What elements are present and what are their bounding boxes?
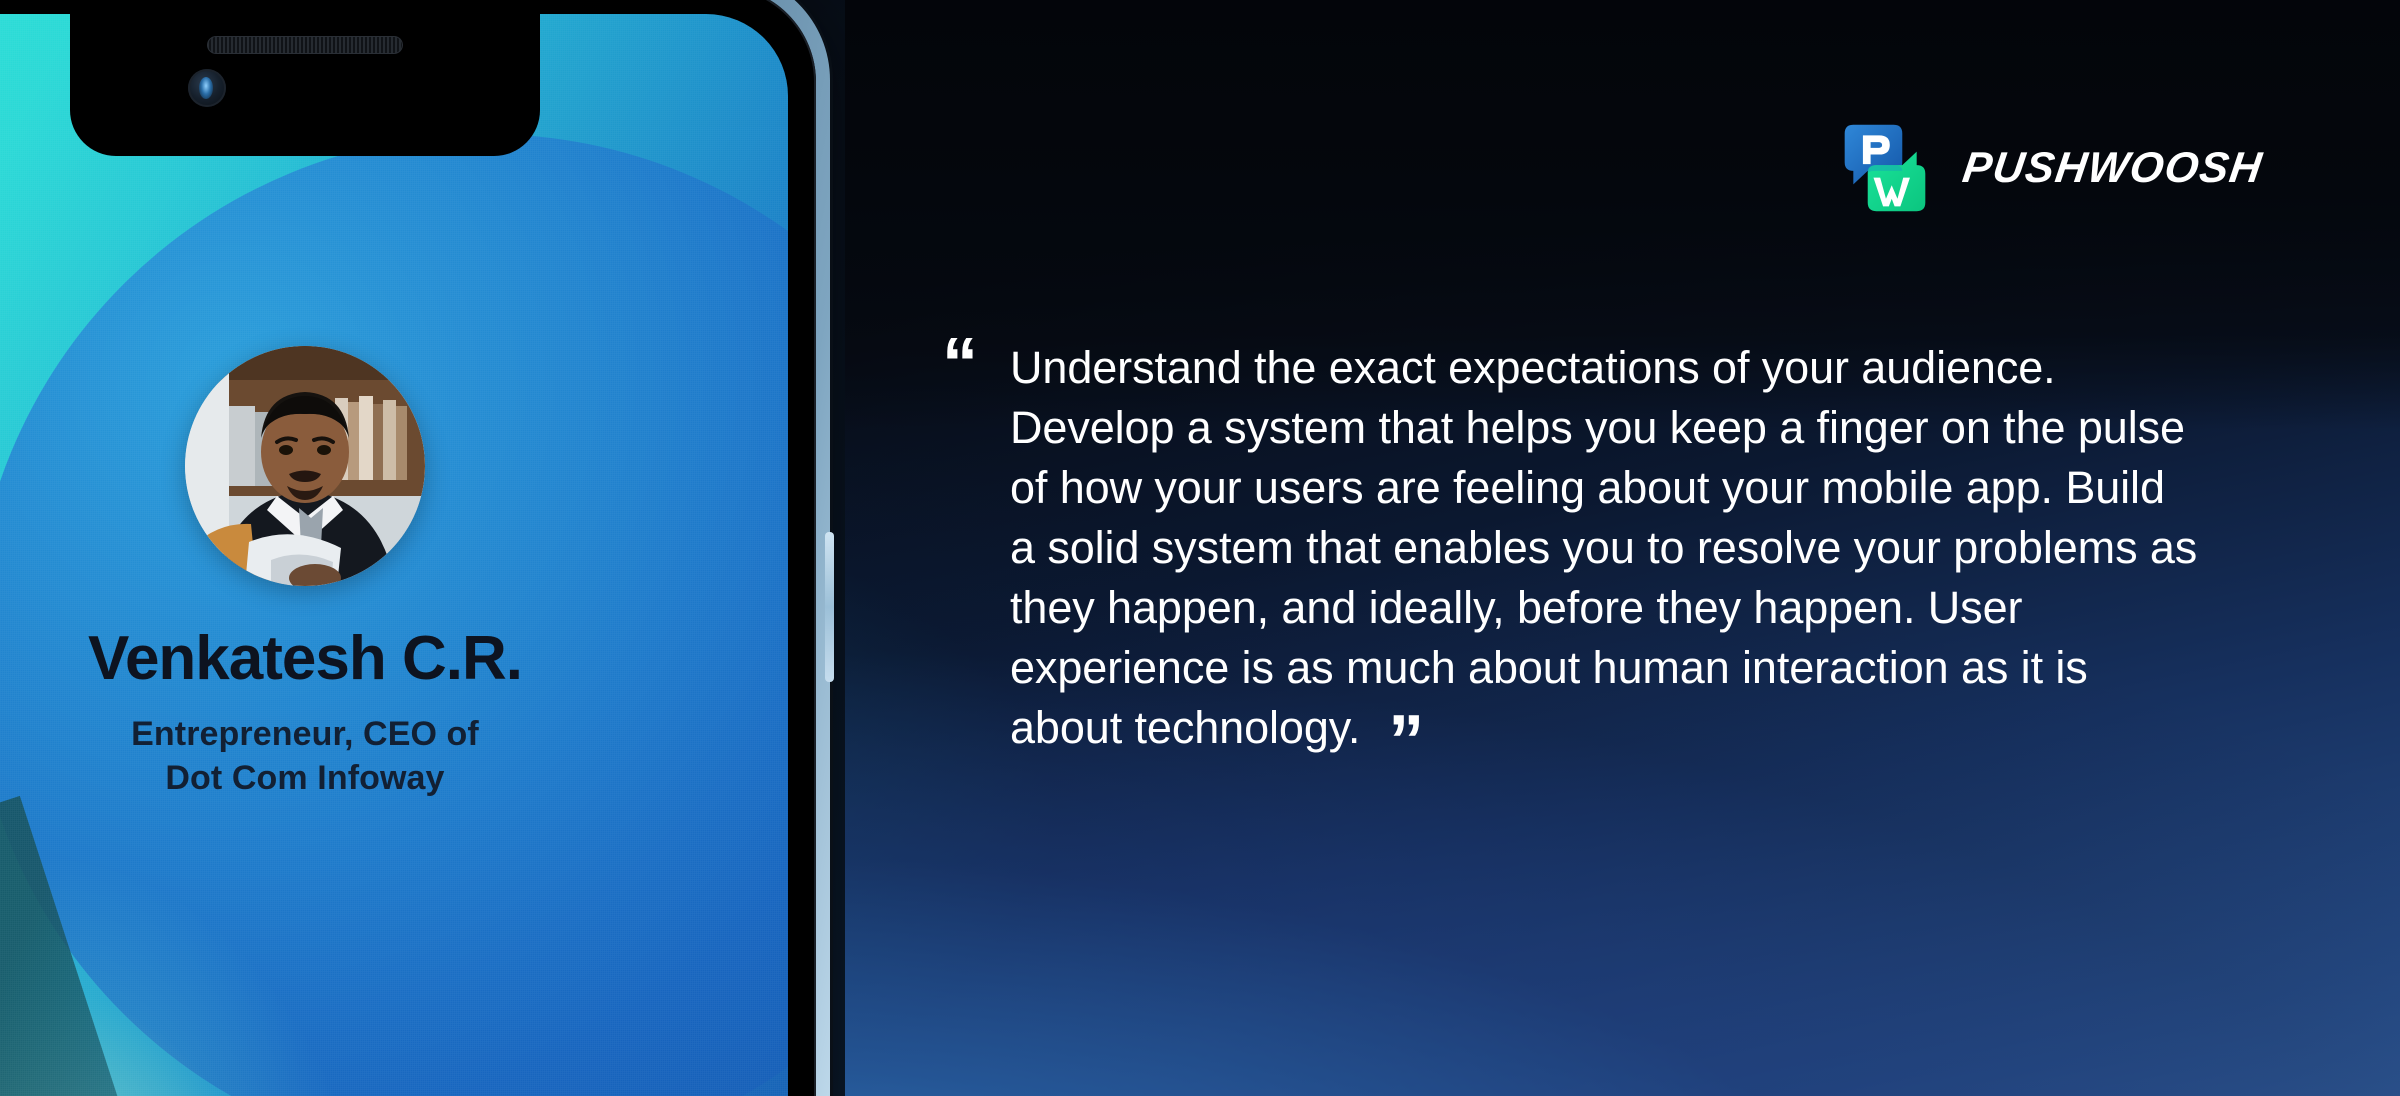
testimonial-banner: Venkatesh C.R. Entrepreneur, CEO of Dot … <box>0 0 2400 1096</box>
quote-text: Understand the exact expectations of you… <box>1010 342 2197 753</box>
testimonial-card: Venkatesh C.R. Entrepreneur, CEO of Dot … <box>0 346 788 800</box>
earpiece-speaker-icon <box>207 36 403 54</box>
phone-frame: Venkatesh C.R. Entrepreneur, CEO of Dot … <box>0 0 830 1096</box>
power-button-icon[interactable] <box>825 532 834 682</box>
phone-screen: Venkatesh C.R. Entrepreneur, CEO of Dot … <box>0 14 788 1096</box>
person-role-line-1: Entrepreneur, CEO of <box>0 713 748 757</box>
avatar <box>185 346 425 586</box>
quote-text-wrapper: Understand the exact expectations of you… <box>1010 338 2202 777</box>
phone-bezel: Venkatesh C.R. Entrepreneur, CEO of Dot … <box>0 0 816 1096</box>
phone-notch <box>70 14 540 156</box>
phone-mockup: Venkatesh C.R. Entrepreneur, CEO of Dot … <box>0 0 845 1096</box>
front-camera-icon <box>188 69 226 107</box>
brand-name: PUSHWOOSH <box>1959 144 2265 193</box>
quote-close-mark: ” <box>1388 705 1424 777</box>
quote-block: “ Understand the exact expectations of y… <box>942 338 2202 777</box>
page-title: Venkatesh C.R. <box>0 626 748 691</box>
brand-logo[interactable]: PUSHWOOSH <box>1837 120 2262 216</box>
pushwoosh-chat-bubbles-icon <box>1837 120 1933 216</box>
person-role-line-2: Dot Com Infoway <box>0 757 748 801</box>
quote-open-mark: “ <box>942 328 978 400</box>
person-role: Entrepreneur, CEO of Dot Com Infoway <box>0 713 748 800</box>
